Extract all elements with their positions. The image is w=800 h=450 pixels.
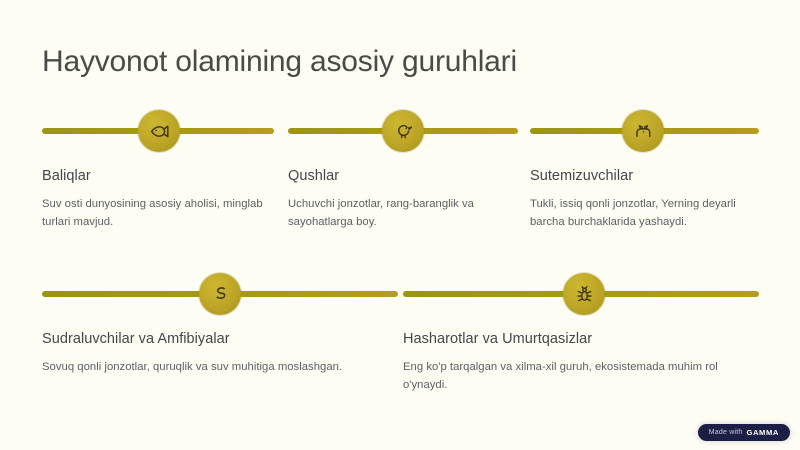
card-heading: Baliqlar: [42, 168, 274, 184]
card-body: Eng ko'p tarqalgan va xilma-xil guruh, e…: [403, 358, 759, 395]
snake-icon: [199, 273, 241, 315]
card-body: Tukli, issiq qonli jonzotlar, Yerning de…: [530, 195, 759, 232]
card-heading: Qushlar: [288, 168, 518, 184]
card-divider-bar: [42, 110, 274, 152]
card-body: Sovuq qonli jonzotlar, quruqlik va suv m…: [42, 358, 398, 376]
bird-icon: [382, 110, 424, 152]
card-heading: Sudraluvchilar va Amfibiyalar: [42, 331, 398, 347]
card-sutemizuvchilar[interactable]: Sutemizuvchilar Tukli, issiq qonli jonzo…: [530, 110, 759, 232]
card-qushlar[interactable]: Qushlar Uchuvchi jonzotlar, rang-barangl…: [288, 110, 518, 232]
made-with-gamma-badge[interactable]: Made with GAMMA: [698, 424, 790, 441]
card-divider-bar: [42, 273, 398, 315]
card-sudraluvchilar-va-amfibiyalar[interactable]: Sudraluvchilar va Amfibiyalar Sovuq qonl…: [42, 273, 398, 376]
made-with-label: Made with: [709, 429, 743, 436]
insect-icon: [563, 273, 605, 315]
card-baliqlar[interactable]: Baliqlar Suv osti dunyosining asosiy aho…: [42, 110, 274, 232]
card-divider-bar: [403, 273, 759, 315]
card-hasharotlar-va-umurtqasizlar[interactable]: Hasharotlar va Umurtqasizlar Eng ko'p ta…: [403, 273, 759, 395]
gamma-wordmark: GAMMA: [746, 428, 779, 437]
card-divider-bar: [288, 110, 518, 152]
card-heading: Hasharotlar va Umurtqasizlar: [403, 331, 759, 347]
card-body: Uchuvchi jonzotlar, rang-baranglik va sa…: [288, 195, 518, 232]
fish-icon: [138, 110, 180, 152]
page-title: Hayvonot olamining asosiy guruhlari: [42, 45, 517, 79]
slide-canvas: Hayvonot olamining asosiy guruhlari Bali…: [0, 0, 800, 450]
card-divider-bar: [530, 110, 759, 152]
card-body: Suv osti dunyosining asosiy aholisi, min…: [42, 195, 274, 232]
mammal-icon: [622, 110, 664, 152]
card-heading: Sutemizuvchilar: [530, 168, 759, 184]
